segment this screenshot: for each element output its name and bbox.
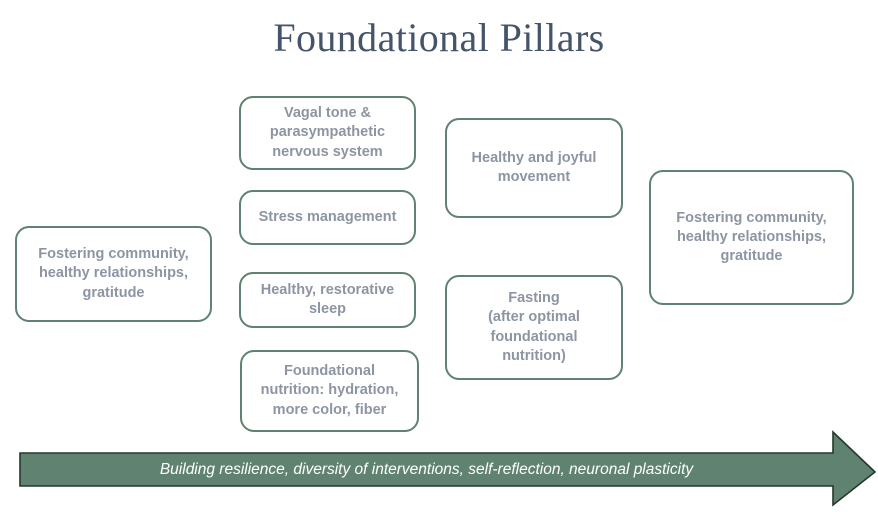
right-arrow-icon xyxy=(0,425,878,512)
pillar-box-joyful-movement: Healthy and joyful movement xyxy=(445,118,623,218)
arrow-shape xyxy=(20,432,875,505)
pillar-box-vagal-tone: Vagal tone & parasympathetic nervous sys… xyxy=(239,96,416,170)
pillar-box-fasting: Fasting (after optimal foundational nutr… xyxy=(445,275,623,380)
page-title: Foundational Pillars xyxy=(0,14,878,61)
pillar-box-community-right: Fostering community, healthy relationshi… xyxy=(649,170,854,305)
pillar-box-restorative-sleep: Healthy, restorative sleep xyxy=(239,272,416,328)
pillar-box-stress-management: Stress management xyxy=(239,190,416,245)
pillar-box-community-left: Fostering community, healthy relationshi… xyxy=(15,226,212,322)
pillar-box-foundational-nutrition: Foundational nutrition: hydration, more … xyxy=(240,350,419,432)
diagram-canvas: Foundational Pillars Fostering community… xyxy=(0,0,878,512)
